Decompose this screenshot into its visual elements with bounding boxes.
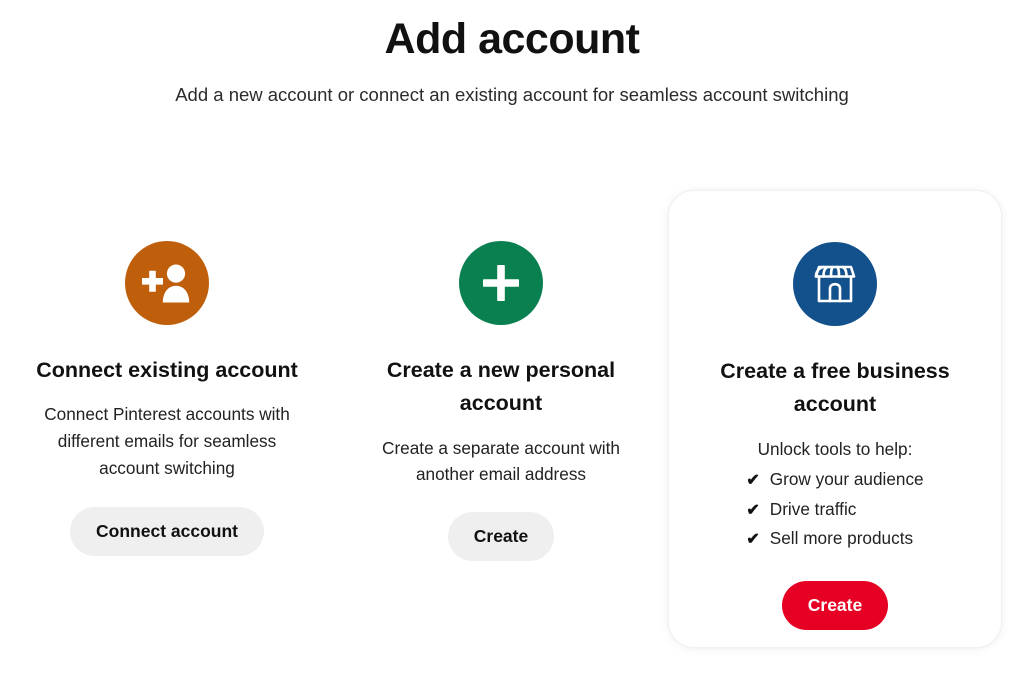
list-item-label: Grow your audience [770,465,924,493]
option-connect-existing-account[interactable]: Connect existing account Connect Pintere… [0,190,334,556]
option-title: Create a new personal account [361,354,641,421]
list-item: ✔ Drive traffic [746,495,923,524]
check-icon: ✔ [746,527,759,553]
button-wrap: Create [448,512,554,561]
check-icon: ✔ [746,468,759,494]
create-business-account-button[interactable]: Create [782,581,888,630]
list-item-label: Sell more products [770,524,913,552]
page-header: Add account Add a new account or connect… [0,0,1024,108]
create-personal-account-button[interactable]: Create [448,512,554,561]
check-icon: ✔ [746,498,759,524]
add-account-page: Add account Add a new account or connect… [0,0,1024,682]
option-create-personal-account[interactable]: Create a new personal account Create a s… [334,190,668,561]
page-title: Add account [0,14,1024,66]
storefront-icon [793,242,877,326]
list-item: ✔ Sell more products [746,524,923,553]
benefits-list: ✔ Grow your audience ✔ Drive traffic ✔ S… [746,465,923,553]
list-item: ✔ Grow your audience [746,465,923,494]
benefits-intro: Unlock tools to help: [758,436,913,463]
button-wrap: Connect account [70,507,264,556]
connect-account-button[interactable]: Connect account [70,507,264,556]
option-title: Create a free business account [695,355,975,422]
account-options-row: Connect existing account Connect Pintere… [0,190,1024,660]
option-description: Create a separate account with another e… [362,435,640,488]
option-description: Connect Pinterest accounts with differen… [28,401,306,481]
option-create-business-account[interactable]: Create a free business account Unlock to… [668,190,1002,648]
plus-icon [459,241,543,325]
add-user-icon [125,241,209,325]
page-subtitle: Add a new account or connect an existing… [0,82,1024,109]
list-item-label: Drive traffic [770,495,857,523]
option-title: Connect existing account [36,354,298,387]
button-wrap: Create [782,581,888,630]
